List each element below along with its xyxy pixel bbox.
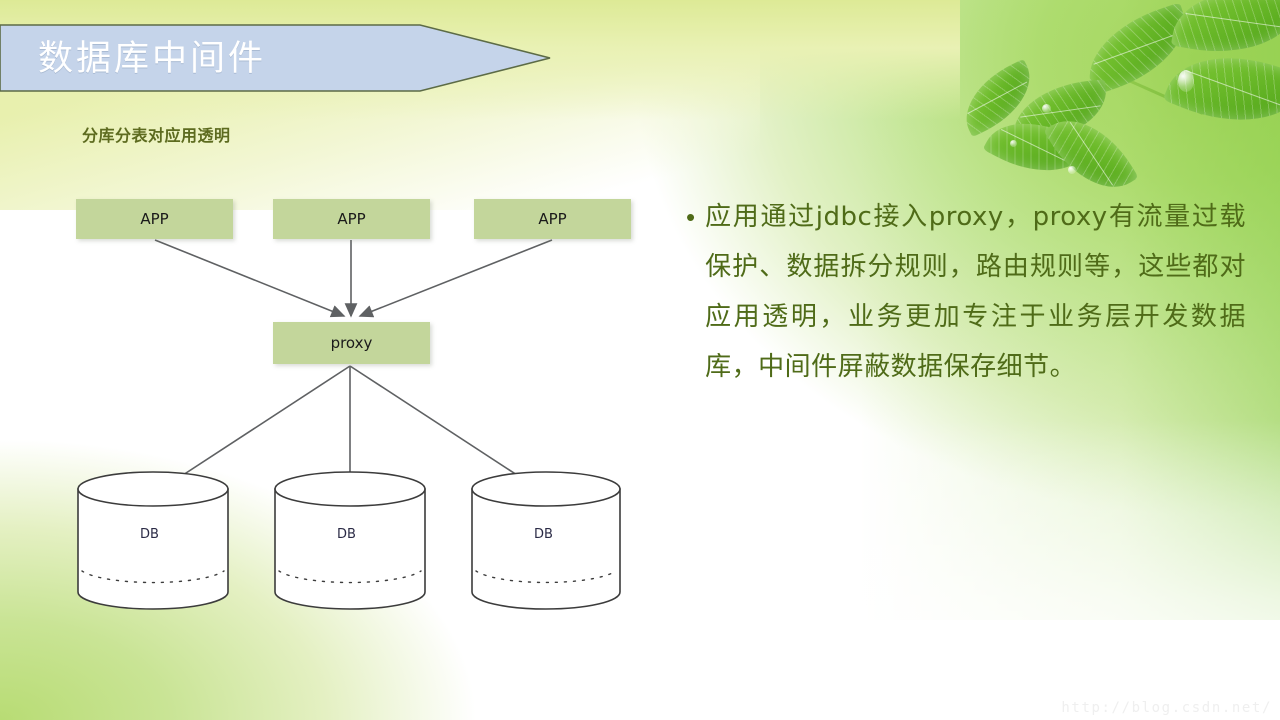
- app-node-1[interactable]: APP: [76, 199, 233, 239]
- background-right-bottom-fade: [660, 420, 1280, 720]
- bullet-paragraph: 应用通过jdbc接入proxy，proxy有流量过载保护、数据拆分规则，路由规则…: [705, 192, 1246, 392]
- app-node-1-label: APP: [140, 210, 168, 228]
- arrow-proxy-to-db1: [160, 366, 350, 490]
- db-node-3-label: DB: [534, 527, 553, 542]
- bullet-marker-icon: •: [686, 192, 695, 242]
- app-node-2-label: APP: [337, 210, 365, 228]
- db-node-1-label: DB: [140, 527, 159, 542]
- proxy-node-label: proxy: [331, 334, 373, 352]
- arrow-app3-to-proxy: [360, 240, 552, 316]
- app-node-3[interactable]: APP: [474, 199, 631, 239]
- arrow-app1-to-proxy: [155, 240, 344, 316]
- app-node-3-label: APP: [538, 210, 566, 228]
- watermark-url: http://blog.csdn.net/: [1061, 700, 1272, 716]
- body-text-block: • 应用通过jdbc接入proxy，proxy有流量过载保护、数据拆分规则，路由…: [686, 192, 1246, 392]
- arrow-proxy-to-db3: [350, 366, 540, 490]
- architecture-diagram: APP APP APP proxy: [0, 0, 680, 720]
- app-node-2[interactable]: APP: [273, 199, 430, 239]
- proxy-node[interactable]: proxy: [273, 322, 430, 364]
- bullet-list-item: • 应用通过jdbc接入proxy，proxy有流量过载保护、数据拆分规则，路由…: [686, 192, 1246, 392]
- db-node-2-label: DB: [337, 527, 356, 542]
- slide-canvas: 数据库中间件 分库分表对应用透明 APP: [0, 0, 1280, 720]
